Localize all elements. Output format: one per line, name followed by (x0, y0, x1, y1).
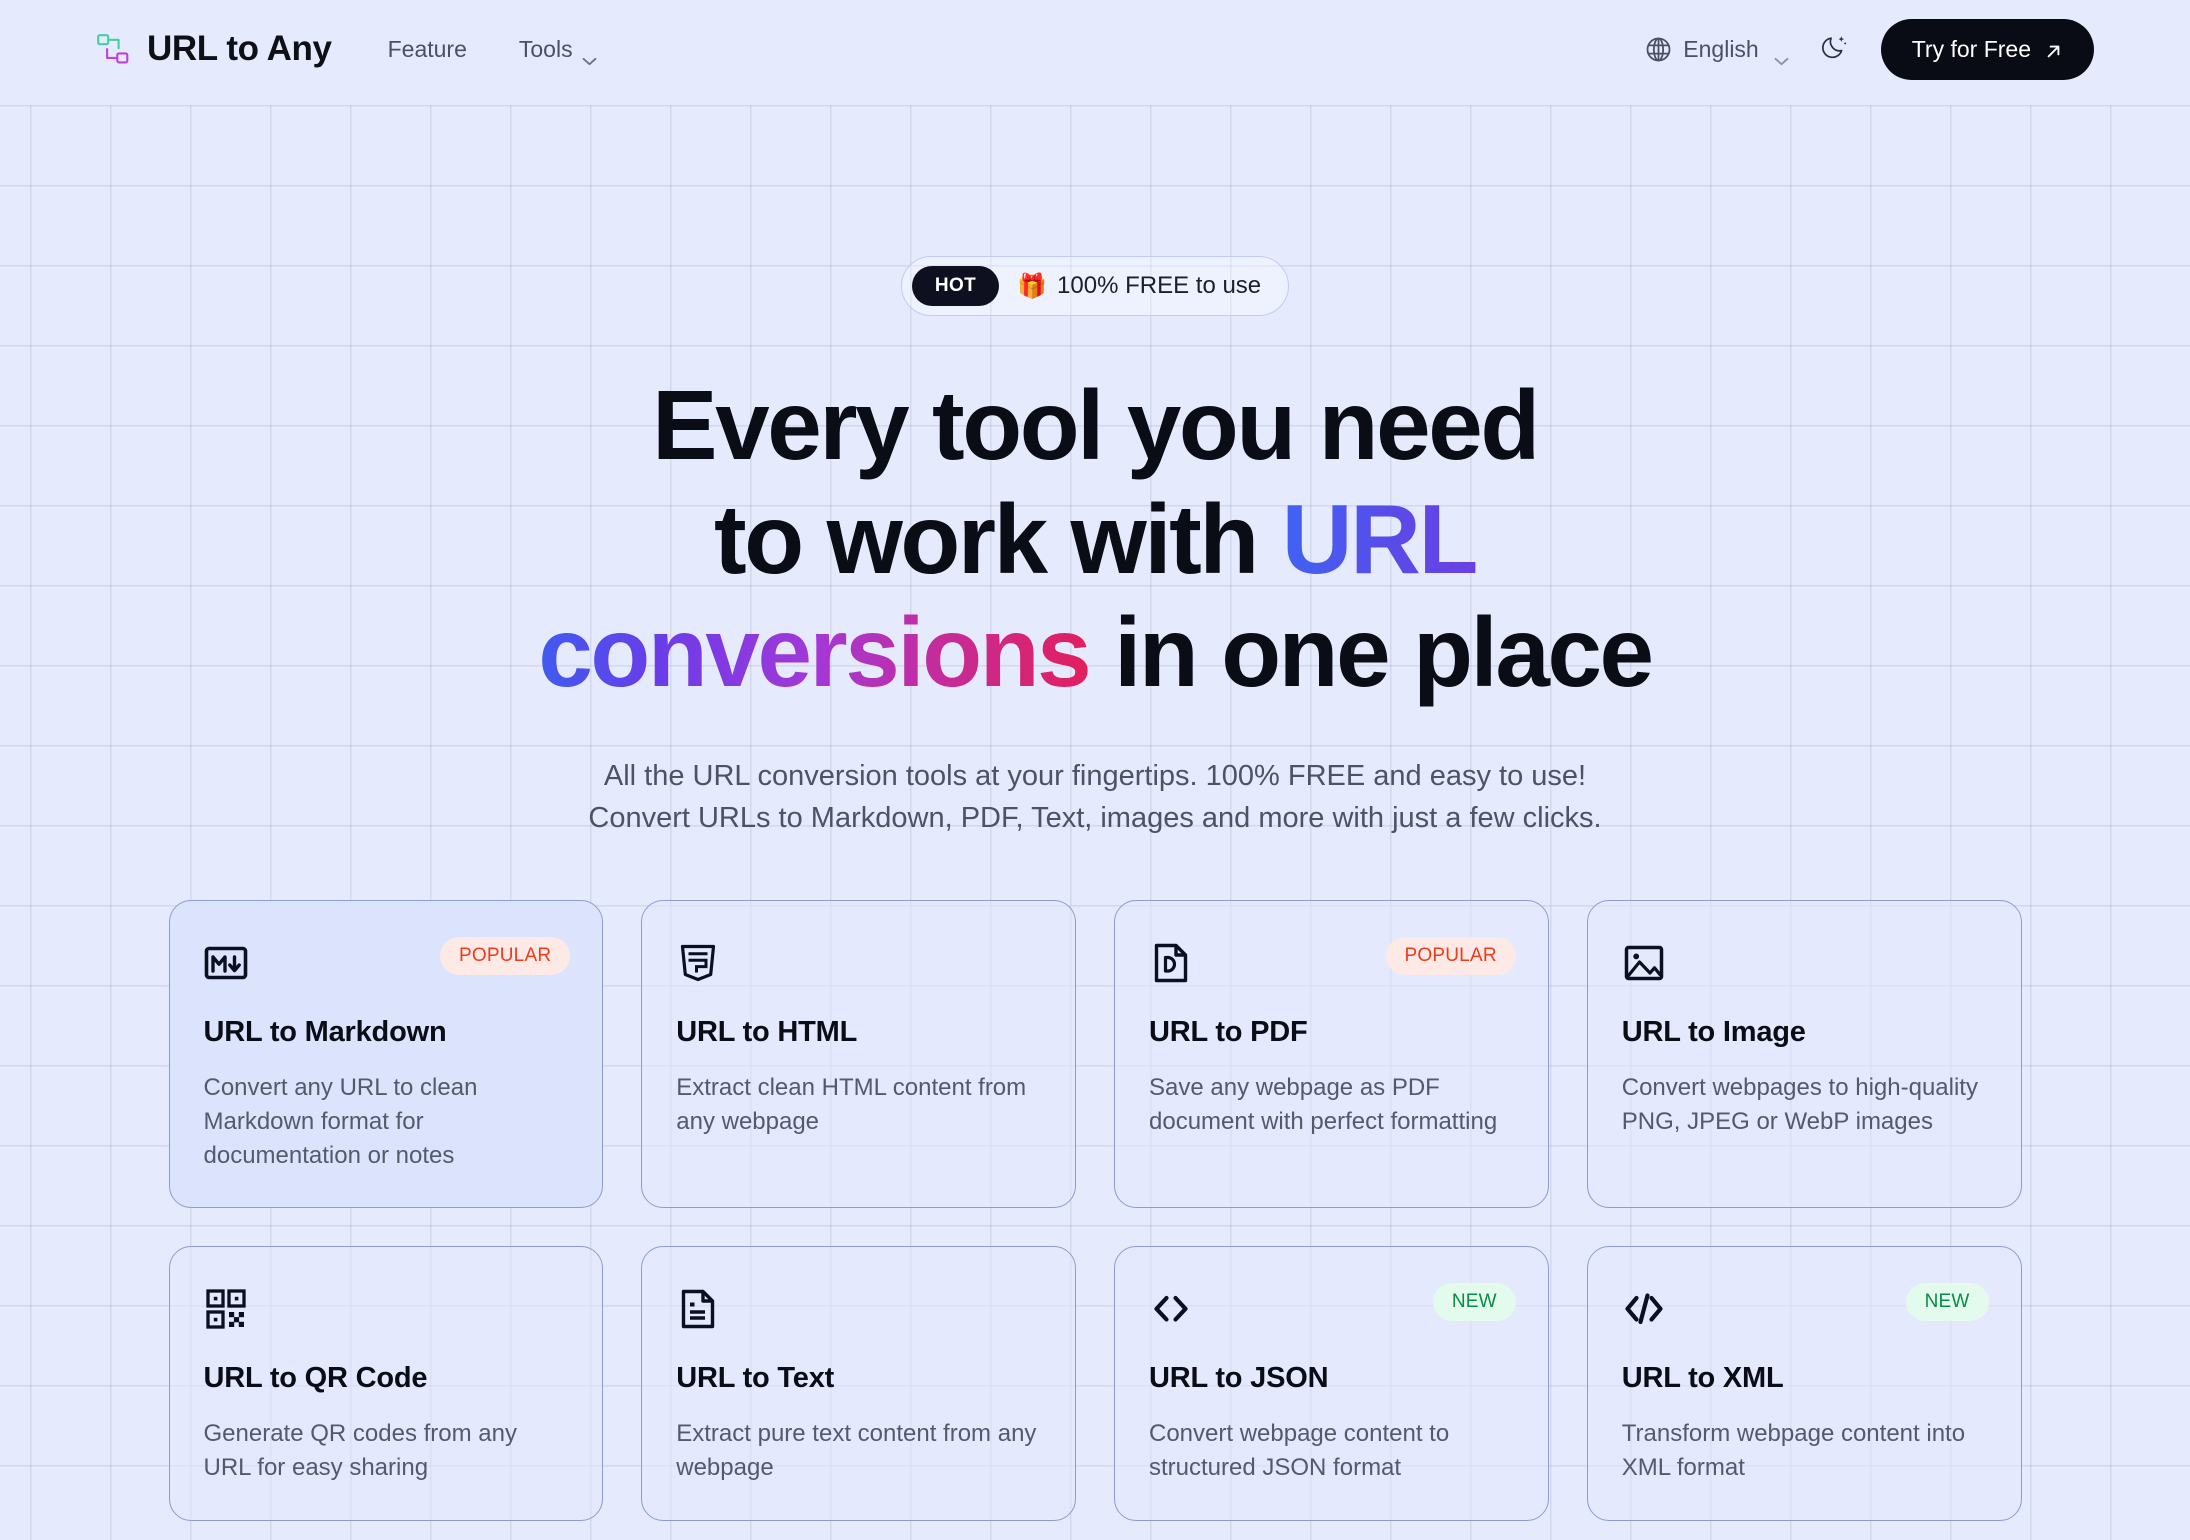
tool-card-url-to-text[interactable]: URL to Text Extract pure text content fr… (641, 1246, 1076, 1520)
html5-icon (676, 941, 720, 985)
status-badge: POPULAR (440, 937, 570, 975)
tool-card-url-to-pdf[interactable]: POPULAR URL to PDF Save any webpage as P… (1114, 900, 1549, 1208)
tool-card-title: URL to XML (1622, 1362, 1987, 1395)
headline-line-3: conversions in one place (0, 596, 2190, 710)
tool-card-url-to-image[interactable]: URL to Image Convert webpages to high-qu… (1587, 900, 2022, 1208)
text-document-icon (676, 1287, 720, 1331)
headline-line-2: to work with URL (0, 483, 2190, 597)
tool-card-title: URL to Image (1622, 1016, 1987, 1049)
header-actions: English Try for Free (1645, 19, 2094, 80)
language-selector[interactable]: English (1645, 36, 1788, 63)
page-title: Every tool you need to work with URL con… (0, 369, 2190, 710)
tool-card-url-to-qr-code[interactable]: URL to QR Code Generate QR codes from an… (169, 1246, 604, 1520)
tool-card-description: Extract clean HTML content from any webp… (676, 1071, 1041, 1139)
brand-logo[interactable]: URL to Any (96, 29, 332, 69)
headline-line-1: Every tool you need (0, 369, 2190, 483)
tool-card-title: URL to HTML (676, 1016, 1041, 1049)
hero-subtitle-line-2: Convert URLs to Markdown, PDF, Text, ima… (0, 797, 2190, 839)
chevron-down-icon (1774, 45, 1789, 54)
tool-card-grid: POPULAR URL to Markdown Convert any URL … (169, 900, 2022, 1520)
tool-card-title: URL to QR Code (204, 1362, 569, 1395)
tool-card-url-to-html[interactable]: URL to HTML Extract clean HTML content f… (641, 900, 1076, 1208)
headline-conversions-accent: conversions (538, 597, 1089, 707)
headline-line-3-plain: in one place (1089, 597, 1651, 707)
status-badge: NEW (1433, 1283, 1516, 1321)
tool-card-title: URL to Text (676, 1362, 1041, 1395)
tool-card-description: Convert webpages to high-quality PNG, JP… (1622, 1071, 1987, 1139)
chevron-down-icon (582, 45, 597, 54)
pdf-document-icon (1149, 941, 1193, 985)
hot-tag: HOT (912, 266, 999, 306)
tool-card-title: URL to Markdown (204, 1016, 569, 1049)
qr-code-icon (204, 1287, 248, 1331)
tool-card-url-to-markdown[interactable]: POPULAR URL to Markdown Convert any URL … (169, 900, 604, 1208)
tool-card-url-to-json[interactable]: NEW URL to JSON Convert webpage content … (1114, 1246, 1549, 1520)
tool-card-description: Generate QR codes from any URL for easy … (204, 1417, 569, 1485)
theme-toggle-button[interactable] (1815, 29, 1855, 69)
primary-nav: Feature Tools (388, 36, 597, 63)
status-badge: POPULAR (1386, 937, 1516, 975)
nav-item-feature[interactable]: Feature (388, 36, 467, 63)
status-badge: NEW (1906, 1283, 1989, 1321)
brand-name: URL to Any (147, 29, 332, 69)
nav-item-feature-label: Feature (388, 36, 467, 63)
headline-line-2-plain: to work with (714, 484, 1282, 594)
angle-brackets-icon (1149, 1287, 1193, 1331)
language-label: English (1683, 36, 1758, 63)
try-for-free-button[interactable]: Try for Free (1881, 19, 2094, 80)
headline-url-accent: URL (1282, 484, 1476, 594)
tool-card-title: URL to PDF (1149, 1016, 1514, 1049)
landing-page: URL to Any Feature Tools (0, 0, 2190, 1540)
hero-subtitle-line-1: All the URL conversion tools at your fin… (0, 755, 2190, 797)
moon-sparkle-icon (1821, 33, 1849, 66)
flow-nodes-icon (96, 32, 130, 66)
tool-card-description: Save any webpage as PDF document with pe… (1149, 1071, 1514, 1139)
code-slash-icon (1622, 1287, 1666, 1331)
image-icon (1622, 941, 1666, 985)
tool-card-description: Transform webpage content into XML forma… (1622, 1417, 1987, 1485)
arrow-up-right-icon (2044, 40, 2063, 59)
hot-free-badge: HOT 🎁 100% FREE to use (901, 256, 1289, 316)
markdown-icon (204, 941, 248, 985)
tool-card-url-to-xml[interactable]: NEW URL to XML Transform webpage content… (1587, 1246, 2022, 1520)
hero-section: HOT 🎁 100% FREE to use Every tool you ne… (0, 98, 2190, 839)
tool-card-description: Convert any URL to clean Markdown format… (204, 1071, 569, 1173)
hero-subtitle: All the URL conversion tools at your fin… (0, 755, 2190, 839)
gift-emoji-icon: 🎁 (1017, 272, 1047, 301)
cta-label: Try for Free (1912, 36, 2031, 63)
nav-item-tools-label: Tools (519, 36, 573, 63)
tool-card-description: Convert webpage content to structured JS… (1149, 1417, 1514, 1485)
tool-card-description: Extract pure text content from any webpa… (676, 1417, 1041, 1485)
globe-icon (1645, 36, 1672, 63)
site-header: URL to Any Feature Tools (0, 0, 2190, 98)
free-badge-text: 🎁 100% FREE to use (1017, 272, 1261, 301)
tool-card-title: URL to JSON (1149, 1362, 1514, 1395)
nav-item-tools[interactable]: Tools (519, 36, 597, 63)
free-badge-label: 100% FREE to use (1057, 272, 1261, 300)
